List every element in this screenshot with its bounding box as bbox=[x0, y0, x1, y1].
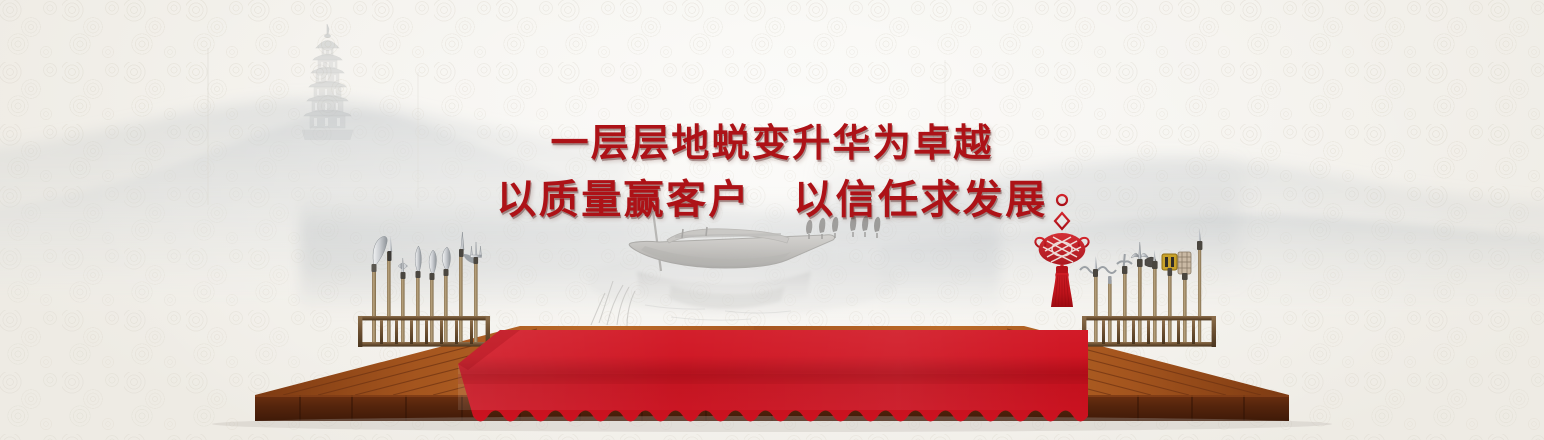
weapon-rack-right bbox=[1072, 228, 1232, 350]
headline-line-1: 一层层地蜕变升华为卓越 bbox=[0, 124, 1544, 162]
headline-block: 一层层地蜕变升华为卓越 以质量赢客户 以信任求发展 bbox=[0, 124, 1544, 220]
headline-line-2: 以质量赢客户 以信任求发展 bbox=[0, 180, 1544, 220]
banner-root: 一层层地蜕变升华为卓越 以质量赢客户 以信任求发展 bbox=[0, 0, 1544, 440]
red-stage-carpet bbox=[458, 330, 1088, 440]
